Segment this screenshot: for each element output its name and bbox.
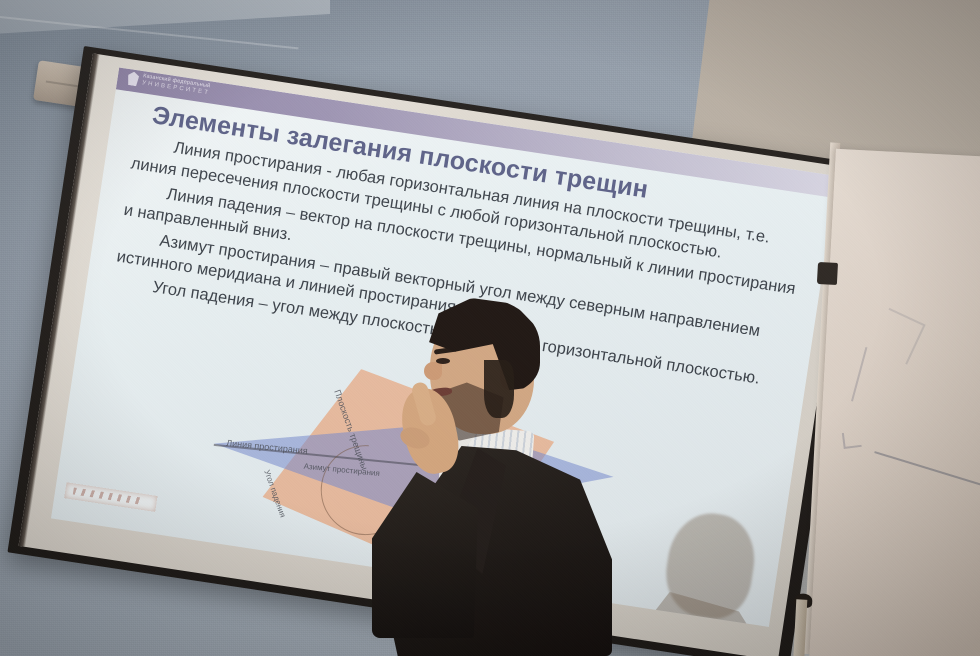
speaker-nose bbox=[424, 362, 442, 380]
photo-canvas: Казанский федеральный УНИВЕРСИТЕТ Элемен… bbox=[0, 0, 980, 656]
whiteboard-flipchart bbox=[795, 148, 980, 656]
speaker-eye bbox=[436, 358, 450, 364]
speaker-sideburn bbox=[484, 360, 514, 418]
flipchart-pen-mark bbox=[871, 308, 926, 365]
flipchart-pen-mark bbox=[842, 431, 862, 449]
flipchart-board bbox=[809, 149, 980, 656]
flipchart-pen-mark bbox=[874, 451, 980, 497]
shadow-head bbox=[660, 508, 761, 624]
speaker-figure bbox=[372, 296, 622, 656]
shield-icon bbox=[127, 71, 140, 86]
flipchart-pen-mark bbox=[851, 347, 867, 402]
flipchart-clip bbox=[817, 262, 838, 285]
